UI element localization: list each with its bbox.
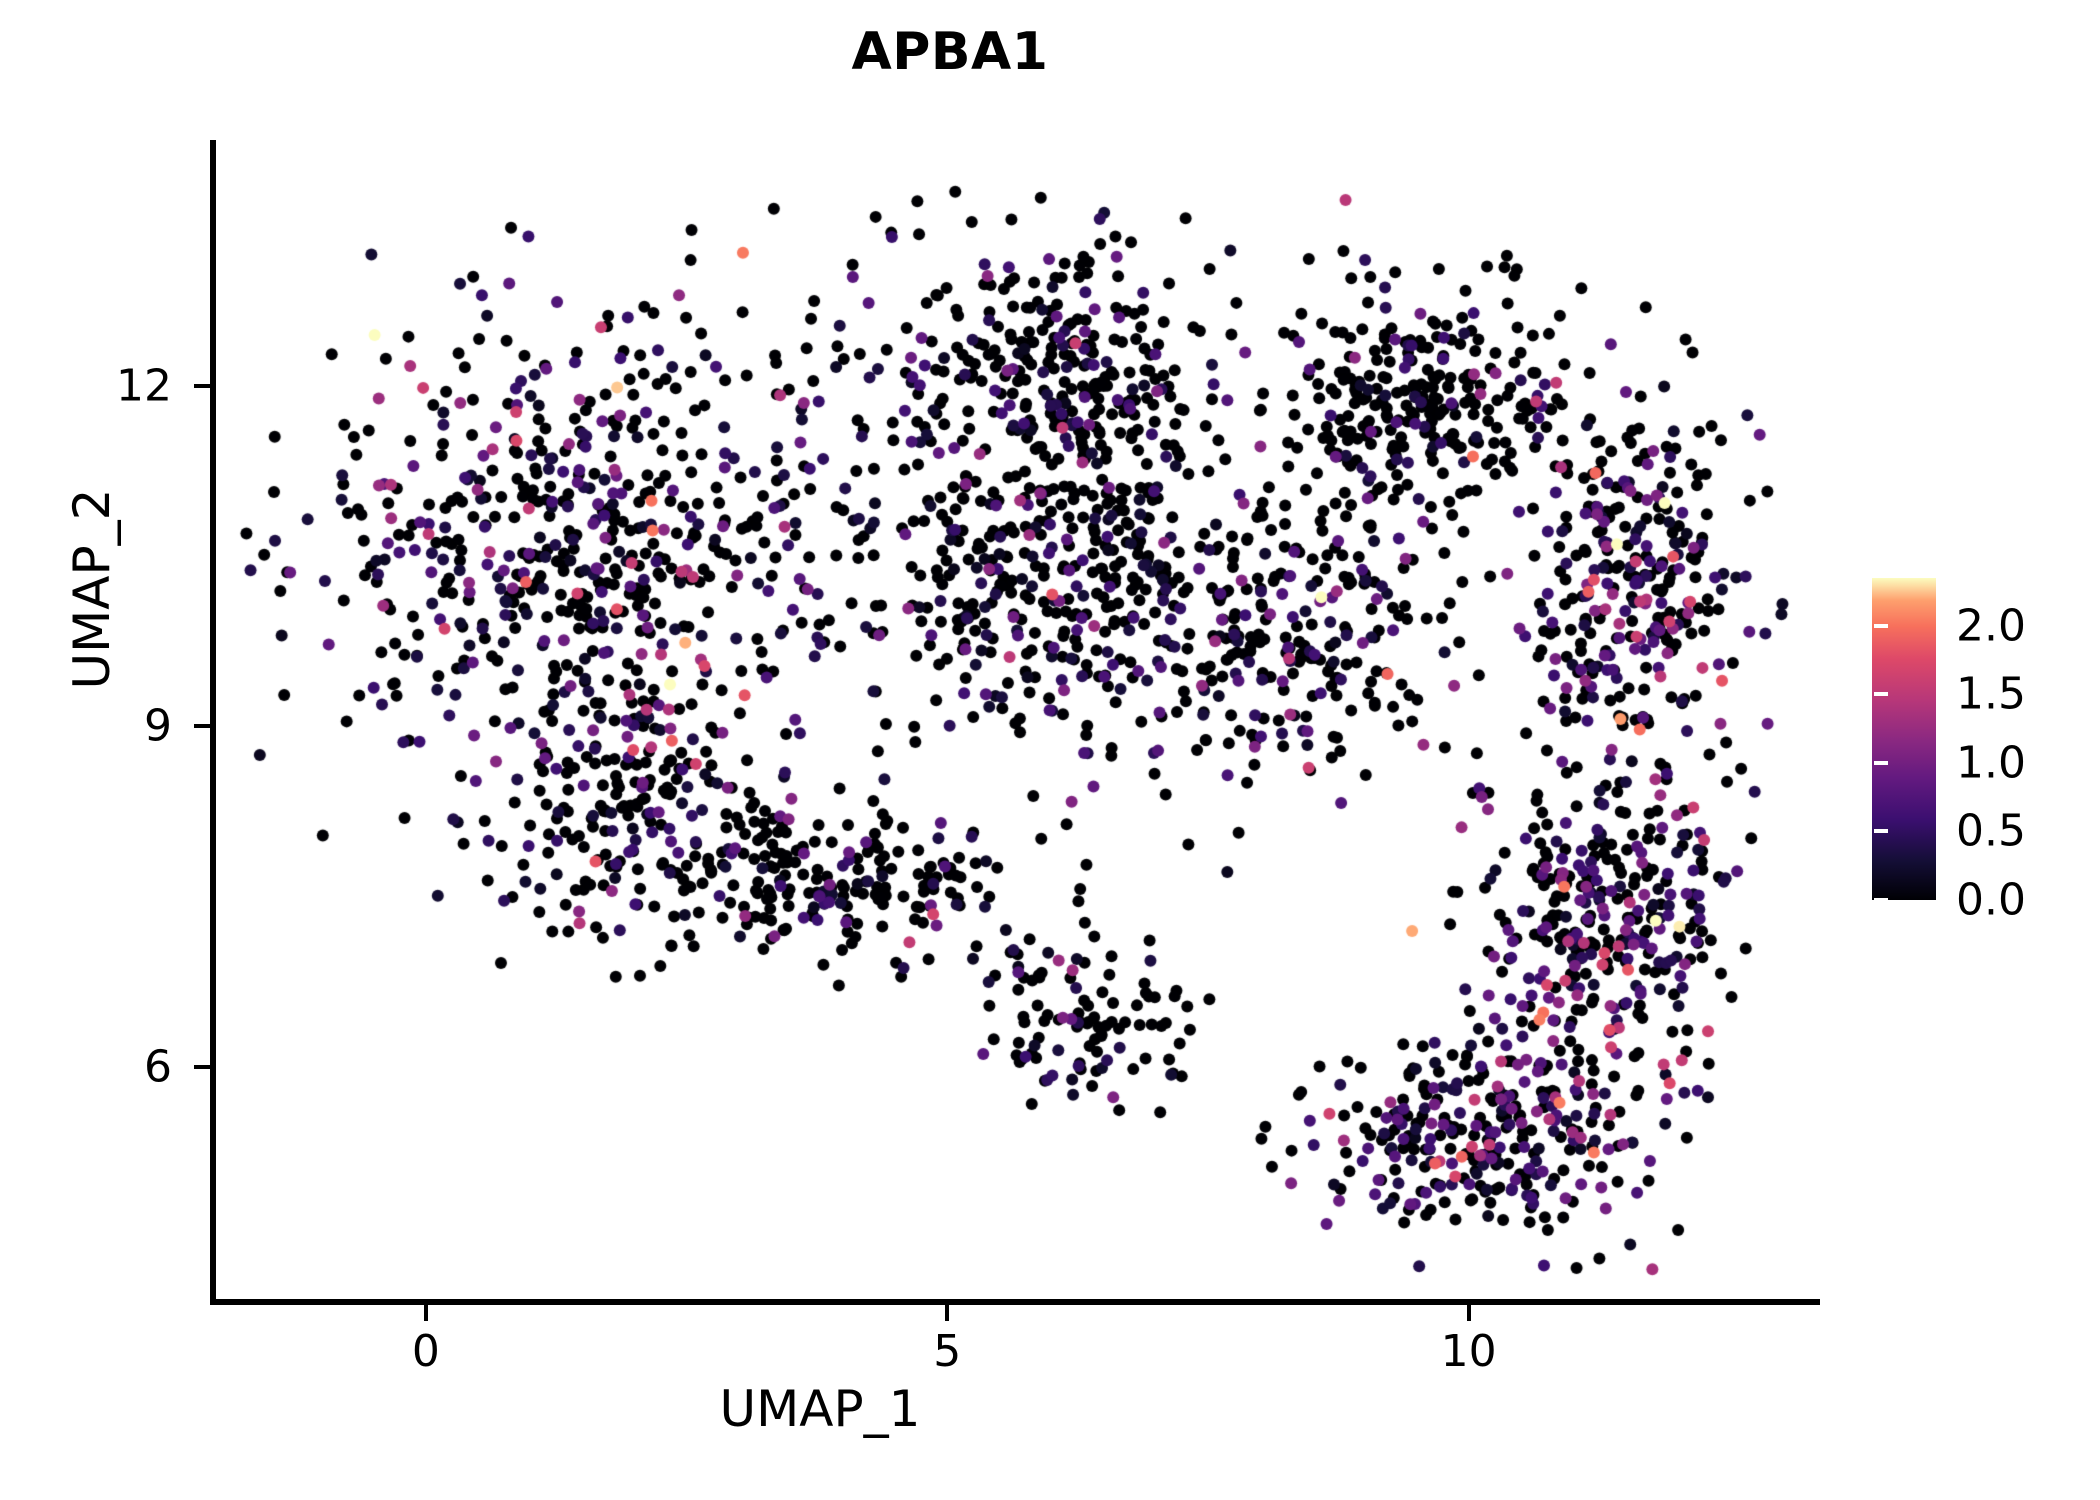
plot-axes: 0510 6912 [210,140,1820,1305]
scatter-plot-canvas [210,140,1820,1305]
x-tick-10 [1467,1305,1471,1321]
axis-spine-bottom [210,1299,1820,1305]
axis-spine-left [210,140,216,1305]
x-tick-0 [424,1305,428,1321]
y-axis-label: UMAP_2 [63,439,121,739]
colorbar-label-0.0: 0.0 [1956,875,2026,926]
colorbar-legend: 0.00.51.01.52.0 [1872,578,2072,900]
colorbar-label-1.5: 1.5 [1956,669,2026,720]
colorbar-tick-right-0.5 [2056,829,2070,833]
y-tick-6 [194,1065,210,1069]
figure-root: APBA1 0510 6912 UMAP_1 UMAP_2 0.00.51.01… [0,0,2100,1500]
colorbar-tick-right-1.0 [2056,761,2070,765]
colorbar-tick-1.5 [1874,692,1888,696]
y-tick-9 [194,724,210,728]
colorbar-tick-1.0 [1874,761,1888,765]
x-axis-label: UMAP_1 [210,1380,1430,1438]
x-tick-5 [945,1305,949,1321]
x-ticklabel-0: 0 [412,1326,440,1377]
x-ticklabel-10: 10 [1441,1326,1497,1377]
colorbar-tick-2.0 [1874,624,1888,628]
colorbar-label-1.0: 1.0 [1956,737,2026,788]
y-ticklabel-6: 6 [144,1041,172,1092]
y-ticklabel-9: 9 [144,701,172,752]
page-title: APBA1 [0,22,1900,82]
colorbar-label-0.5: 0.5 [1956,806,2026,857]
y-tick-12 [194,384,210,388]
x-ticklabel-5: 5 [933,1326,961,1377]
colorbar-tick-0.5 [1874,829,1888,833]
colorbar-tick-0.0 [1874,898,1888,902]
colorbar-label-2.0: 2.0 [1956,600,2026,651]
colorbar-tick-right-2.0 [2056,624,2070,628]
colorbar-tick-right-1.5 [2056,692,2070,696]
colorbar-tick-right-0.0 [2056,898,2070,902]
y-ticklabel-12: 12 [116,361,172,412]
